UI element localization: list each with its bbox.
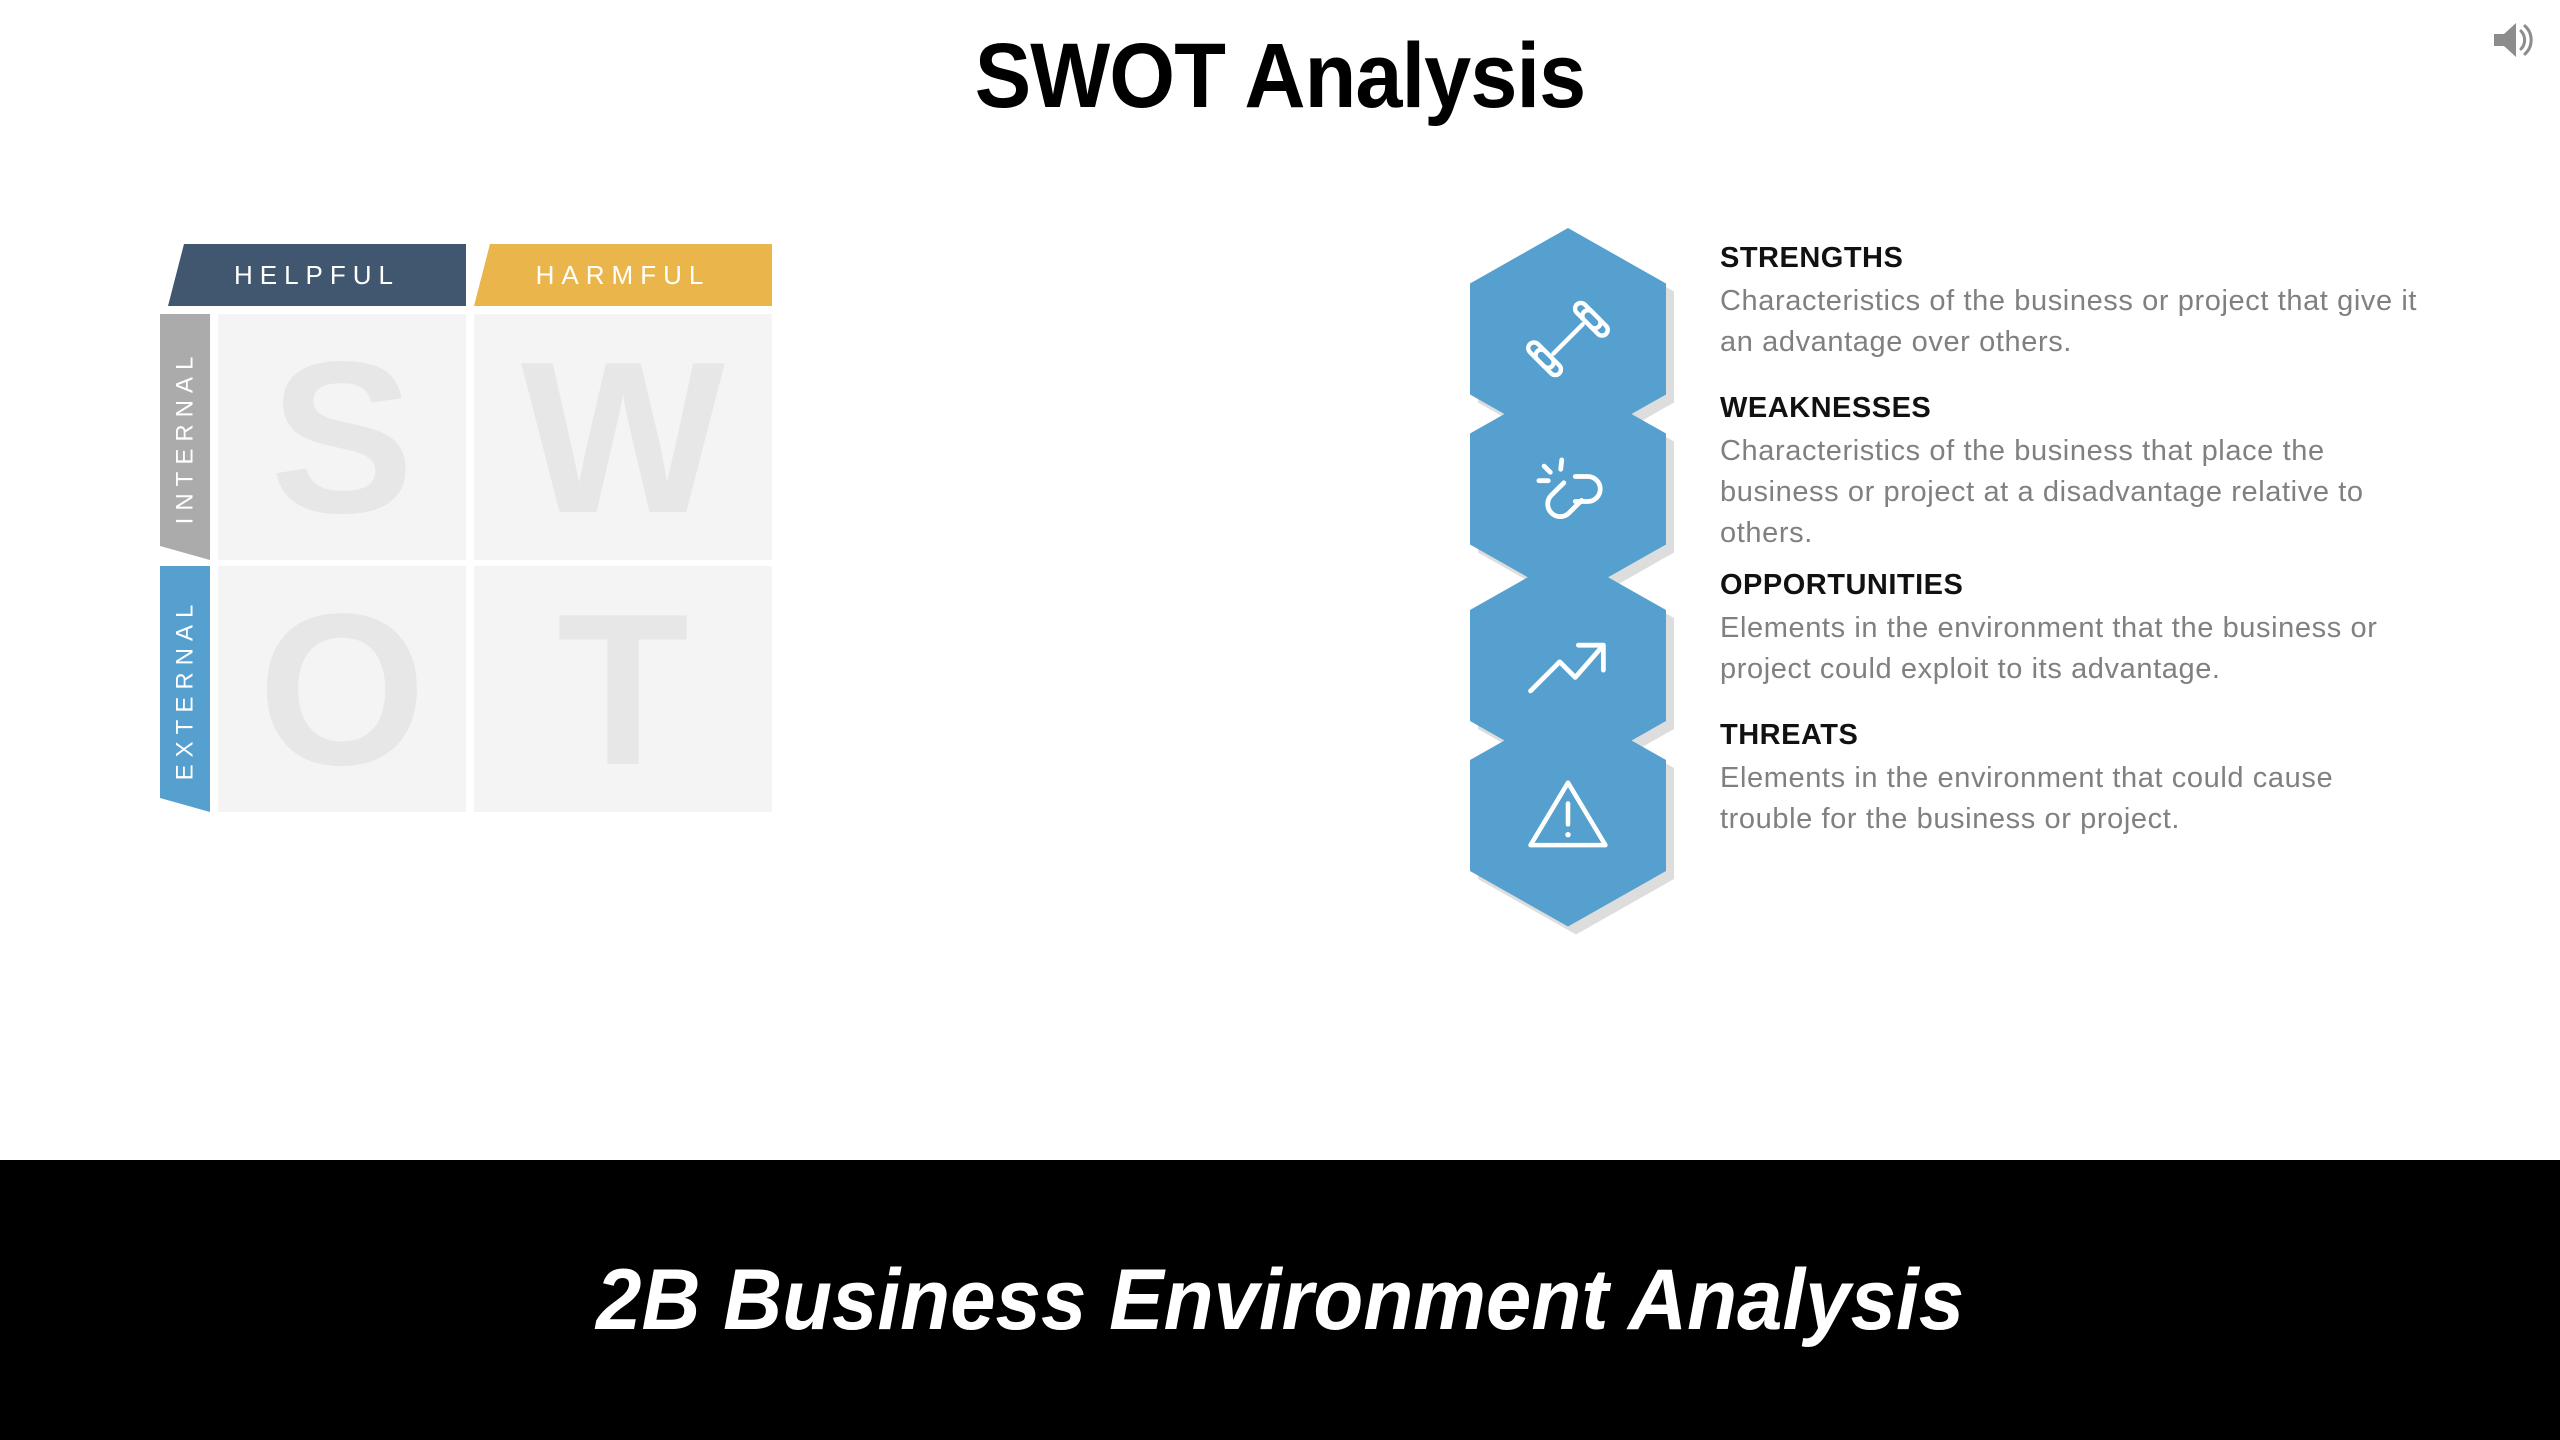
trend-up-arrow-icon [1516, 614, 1620, 718]
item-desc-opportunities: Elements in the environment that the bus… [1720, 602, 2430, 690]
quadrant-strengths[interactable]: S [218, 314, 466, 560]
swot-item-weaknesses[interactable]: WEAKNESSES Characteristics of the busine… [1470, 378, 2470, 555]
column-header-harmful-label: HARMFUL [536, 260, 711, 291]
quadrant-weaknesses[interactable]: W [474, 314, 772, 560]
column-header-harmful: HARMFUL [474, 244, 772, 306]
row-label-internal: INTERNAL [160, 314, 210, 560]
row-label-external-text: EXTERNAL [171, 598, 199, 781]
swot-item-opportunities[interactable]: OPPORTUNITIES Elements in the environmen… [1470, 555, 2470, 705]
page-title: SWOT Analysis [102, 24, 2457, 129]
warning-triangle-icon [1516, 764, 1620, 868]
quadrant-watermark-s: S [218, 329, 466, 545]
column-header-helpful: HELPFUL [168, 244, 466, 306]
item-desc-weaknesses: Characteristics of the business that pla… [1720, 425, 2430, 555]
row-label-internal-text: INTERNAL [171, 350, 199, 525]
swot-item-threats[interactable]: THREATS Elements in the environment that… [1470, 705, 2470, 855]
item-title-weaknesses: WEAKNESSES [1720, 378, 2470, 425]
quadrant-threats[interactable]: T [474, 566, 772, 812]
dumbbell-icon [1516, 287, 1620, 391]
quadrant-watermark-w: W [474, 329, 772, 545]
quadrant-watermark-t: T [474, 581, 772, 797]
column-header-helpful-label: HELPFUL [234, 260, 400, 291]
item-title-strengths: STRENGTHS [1720, 228, 2470, 275]
swot-item-strengths[interactable]: STRENGTHS Characteristics of the busines… [1470, 228, 2470, 378]
item-desc-strengths: Characteristics of the business or proje… [1720, 275, 2430, 363]
item-desc-threats: Elements in the environment that could c… [1720, 752, 2430, 840]
hexagon-threats[interactable] [1470, 705, 1666, 927]
broken-link-icon [1516, 437, 1620, 541]
item-title-opportunities: OPPORTUNITIES [1720, 555, 2470, 602]
item-title-threats: THREATS [1720, 705, 2470, 752]
speaker-volume-icon[interactable] [2484, 12, 2540, 68]
bottom-banner: 2B Business Environment Analysis [0, 1160, 2560, 1440]
banner-title: 2B Business Environment Analysis [596, 1251, 1964, 1350]
swot-matrix: HELPFUL HARMFUL INTERNAL EXTERNAL S W O … [160, 244, 1250, 1112]
row-label-external: EXTERNAL [160, 566, 210, 812]
quadrant-opportunities[interactable]: O [218, 566, 466, 812]
swot-description-list: STRENGTHS Characteristics of the busines… [1470, 228, 2470, 855]
quadrant-watermark-o: O [218, 581, 466, 797]
